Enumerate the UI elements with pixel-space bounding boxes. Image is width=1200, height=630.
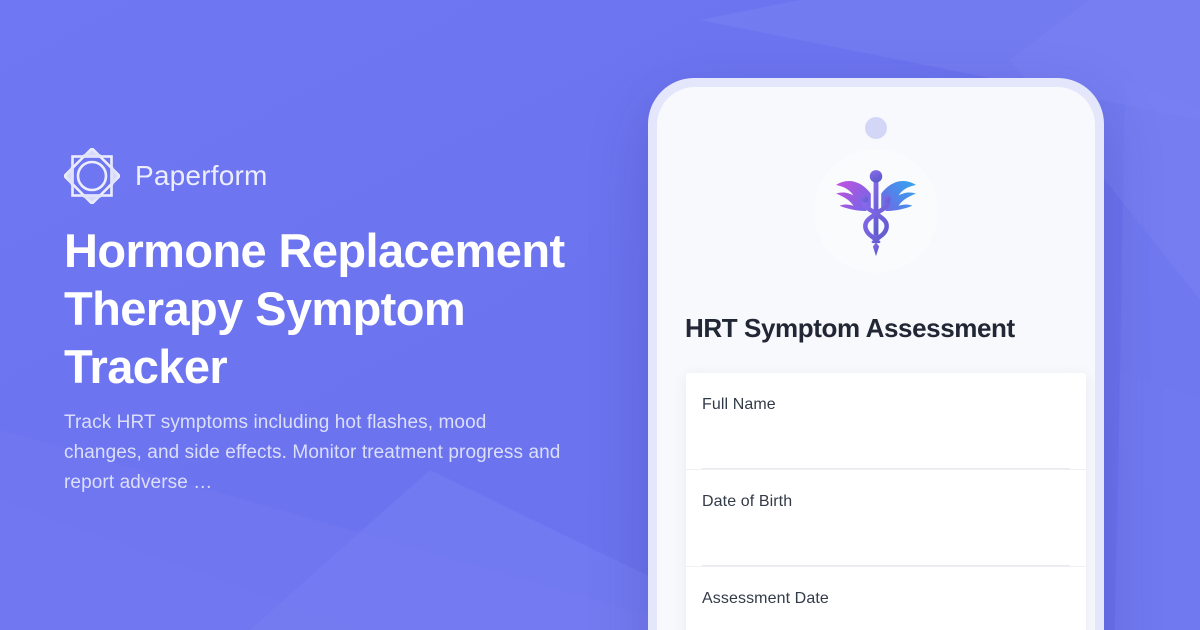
date-of-birth-input-value [702, 521, 1070, 565]
field-label: Date of Birth [702, 492, 1070, 513]
paperform-brand-lockup[interactable]: Paperform [64, 148, 268, 204]
page-description: Track HRT symptoms including hot flashes… [64, 408, 569, 498]
assessment-date-input-value [702, 617, 1070, 630]
brand-name-label: Paperform [135, 162, 268, 190]
page-title: Hormone Replacement Therapy Symptom Trac… [64, 222, 624, 396]
caduceus-medical-icon [824, 159, 928, 263]
form-field-full-name[interactable]: Full Name [686, 373, 1086, 469]
phone-screen: HRT Symptom Assessment Full Name Date of… [657, 87, 1095, 630]
form-logo-badge [814, 149, 938, 273]
form-field-date-of-birth[interactable]: Date of Birth [686, 469, 1086, 566]
hero-content-column: Paperform Hormone Replacement Therapy Sy… [64, 0, 624, 630]
full-name-input-value [702, 424, 1070, 468]
date-of-birth-input[interactable] [702, 521, 1070, 566]
field-label: Assessment Date [702, 589, 1070, 610]
camera-dot-icon [865, 117, 887, 139]
form-card: Full Name Date of Birth Assessment Date [686, 373, 1086, 630]
full-name-input[interactable] [702, 424, 1070, 469]
assessment-date-input[interactable] [702, 617, 1070, 630]
paperform-octagram-icon [64, 148, 120, 204]
field-label: Full Name [702, 395, 1070, 416]
form-title: HRT Symptom Assessment [685, 313, 1085, 344]
form-field-assessment-date[interactable]: Assessment Date [686, 566, 1086, 630]
phone-mockup-frame: HRT Symptom Assessment Full Name Date of… [648, 78, 1104, 630]
